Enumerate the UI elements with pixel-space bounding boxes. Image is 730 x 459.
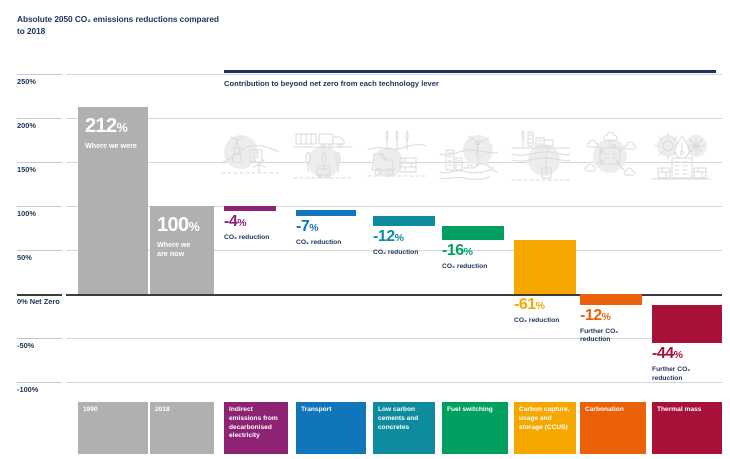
- y-axis-tick-label: 150%: [17, 165, 36, 174]
- lever-caption: CO₂ reduction: [442, 263, 487, 272]
- freight-truck-icon: [292, 128, 354, 186]
- baseline-sublabel: Where we are now: [157, 240, 199, 259]
- percent-symbol: %: [309, 222, 318, 234]
- legend-label: Carbonation: [585, 406, 643, 415]
- legend-label: Fuel switching: [447, 406, 505, 415]
- y-axis-tick-label: 50%: [17, 253, 32, 262]
- y-axis-tick: -100%: [0, 382, 66, 383]
- lever-label-thermal-mass: -44%Further CO₂ reduction: [652, 346, 690, 384]
- percent-symbol: %: [117, 121, 128, 135]
- lever-label-ccus: -61%CO₂ reduction: [514, 297, 559, 326]
- lever-value: -61: [514, 296, 536, 313]
- y-axis-tick: 200%: [0, 118, 66, 119]
- legend-item-3[interactable]: Transport: [296, 402, 366, 454]
- lever-bar-ccus: [514, 240, 576, 294]
- y-axis-tick-label: 250%: [17, 77, 36, 86]
- legend-label: Thermal mass: [657, 406, 719, 415]
- lever-bar-indirect-emissions: [224, 206, 276, 211]
- gridline: [66, 118, 722, 119]
- percent-symbol: %: [674, 349, 683, 361]
- y-axis-tick: 100%: [0, 206, 66, 207]
- lever-value: -4: [224, 213, 237, 230]
- lever-label-carbonation: -12%Further CO₂ reduction: [580, 308, 618, 346]
- thermal-building-icon: [650, 128, 712, 186]
- gridline: [66, 382, 722, 383]
- wind-turbine-icon: [438, 128, 500, 186]
- chart-canvas: Absolute 2050 CO₂ emissions reductions c…: [0, 0, 730, 459]
- y-axis-tick-label: 100%: [17, 209, 36, 218]
- y-axis-tick: -50%: [0, 338, 66, 339]
- lever-label-low-carbon-cements: -12%CO₂ reduction: [373, 229, 418, 258]
- lever-bar-fuel-switching: [442, 226, 504, 240]
- legend-label: Carbon capture, usage and storage (CCUS): [519, 406, 573, 432]
- legend-item-4[interactable]: Low carbon cements and concretes: [373, 402, 435, 454]
- carbon-storage-icon: [510, 128, 572, 186]
- lever-bar-low-carbon-cements: [373, 216, 435, 227]
- y-axis-tick-label: 200%: [17, 121, 36, 130]
- lever-caption: CO₂ reduction: [224, 234, 269, 243]
- y-axis-tick: 150%: [0, 162, 66, 163]
- baseline-sublabel: Where we were: [85, 141, 137, 150]
- lever-caption: CO₂ reduction: [514, 317, 559, 326]
- lever-value: -12: [373, 228, 395, 245]
- baseline-bar-label-1990: 212%Where we were: [85, 116, 137, 150]
- legend-item-8[interactable]: Thermal mass: [652, 402, 722, 454]
- legend-item-5[interactable]: Fuel switching: [442, 402, 508, 454]
- y-axis-tick-mark: [17, 294, 62, 296]
- page-title: Absolute 2050 CO₂ emissions reductions c…: [17, 14, 227, 38]
- y-axis-tick-mark: [17, 382, 62, 383]
- percent-symbol: %: [602, 311, 611, 323]
- y-axis-tick: 0% Net Zero: [0, 294, 66, 295]
- percent-symbol: %: [464, 246, 473, 258]
- legend-item-2[interactable]: Indirect emissions from decarbonised ele…: [224, 402, 288, 454]
- y-axis-tick-label: -100%: [17, 385, 38, 394]
- legend-label: Low carbon cements and concretes: [378, 406, 432, 432]
- percent-symbol: %: [536, 300, 545, 312]
- lever-value: -16: [442, 242, 464, 259]
- legend-label: Transport: [301, 406, 363, 415]
- percent-symbol: %: [189, 220, 200, 234]
- y-axis-tick-label: 0% Net Zero: [17, 297, 60, 306]
- lever-value: -12: [580, 307, 602, 324]
- lever-value: -44: [652, 345, 674, 362]
- lever-label-indirect-emissions: -4%CO₂ reduction: [224, 214, 269, 243]
- lever-bar-thermal-mass: [652, 305, 722, 344]
- lever-caption: CO₂ reduction: [296, 239, 341, 248]
- y-axis-tick: 250%: [0, 74, 66, 75]
- lever-caption: Further CO₂ reduction: [580, 328, 618, 346]
- lever-label-transport: -7%CO₂ reduction: [296, 219, 341, 248]
- legend-label: 1990: [83, 406, 145, 415]
- co2-molecule-icon: [580, 128, 642, 186]
- power-grid-icon: [219, 128, 281, 186]
- section-header-rule: [224, 70, 716, 73]
- concrete-mixer-icon: [366, 128, 428, 186]
- y-axis-tick-mark: [17, 338, 62, 339]
- y-axis-tick-mark: [17, 74, 62, 75]
- y-axis-tick-label: -50%: [17, 341, 34, 350]
- baseline-value: 212: [85, 115, 117, 137]
- y-axis-tick-mark: [17, 250, 62, 251]
- lever-caption: Further CO₂ reduction: [652, 366, 690, 384]
- gridline: [66, 338, 722, 339]
- legend-item-6[interactable]: Carbon capture, usage and storage (CCUS): [514, 402, 576, 454]
- y-axis-tick: 50%: [0, 250, 66, 251]
- lever-label-fuel-switching: -16%CO₂ reduction: [442, 243, 487, 272]
- section-header: Contribution to beyond net zero from eac…: [224, 70, 716, 88]
- lever-bar-carbonation: [580, 294, 642, 305]
- legend-item-0[interactable]: 1990: [78, 402, 148, 454]
- lever-bar-transport: [296, 210, 356, 216]
- y-axis-tick-mark: [17, 162, 62, 163]
- percent-symbol: %: [395, 232, 404, 244]
- section-header-label: Contribution to beyond net zero from eac…: [224, 79, 716, 88]
- percent-symbol: %: [237, 217, 246, 229]
- baseline-value: 100: [157, 214, 189, 236]
- legend-item-7[interactable]: Carbonation: [580, 402, 646, 454]
- lever-caption: CO₂ reduction: [373, 249, 418, 258]
- legend-label: 2018: [155, 406, 211, 415]
- y-axis-tick-mark: [17, 118, 62, 119]
- y-axis-tick-mark: [17, 206, 62, 207]
- legend-label: Indirect emissions from decarbonised ele…: [229, 406, 285, 441]
- lever-value: -7: [296, 218, 309, 235]
- legend-item-1[interactable]: 2018: [150, 402, 214, 454]
- baseline-bar-label-2018: 100%Where we are now: [157, 215, 199, 259]
